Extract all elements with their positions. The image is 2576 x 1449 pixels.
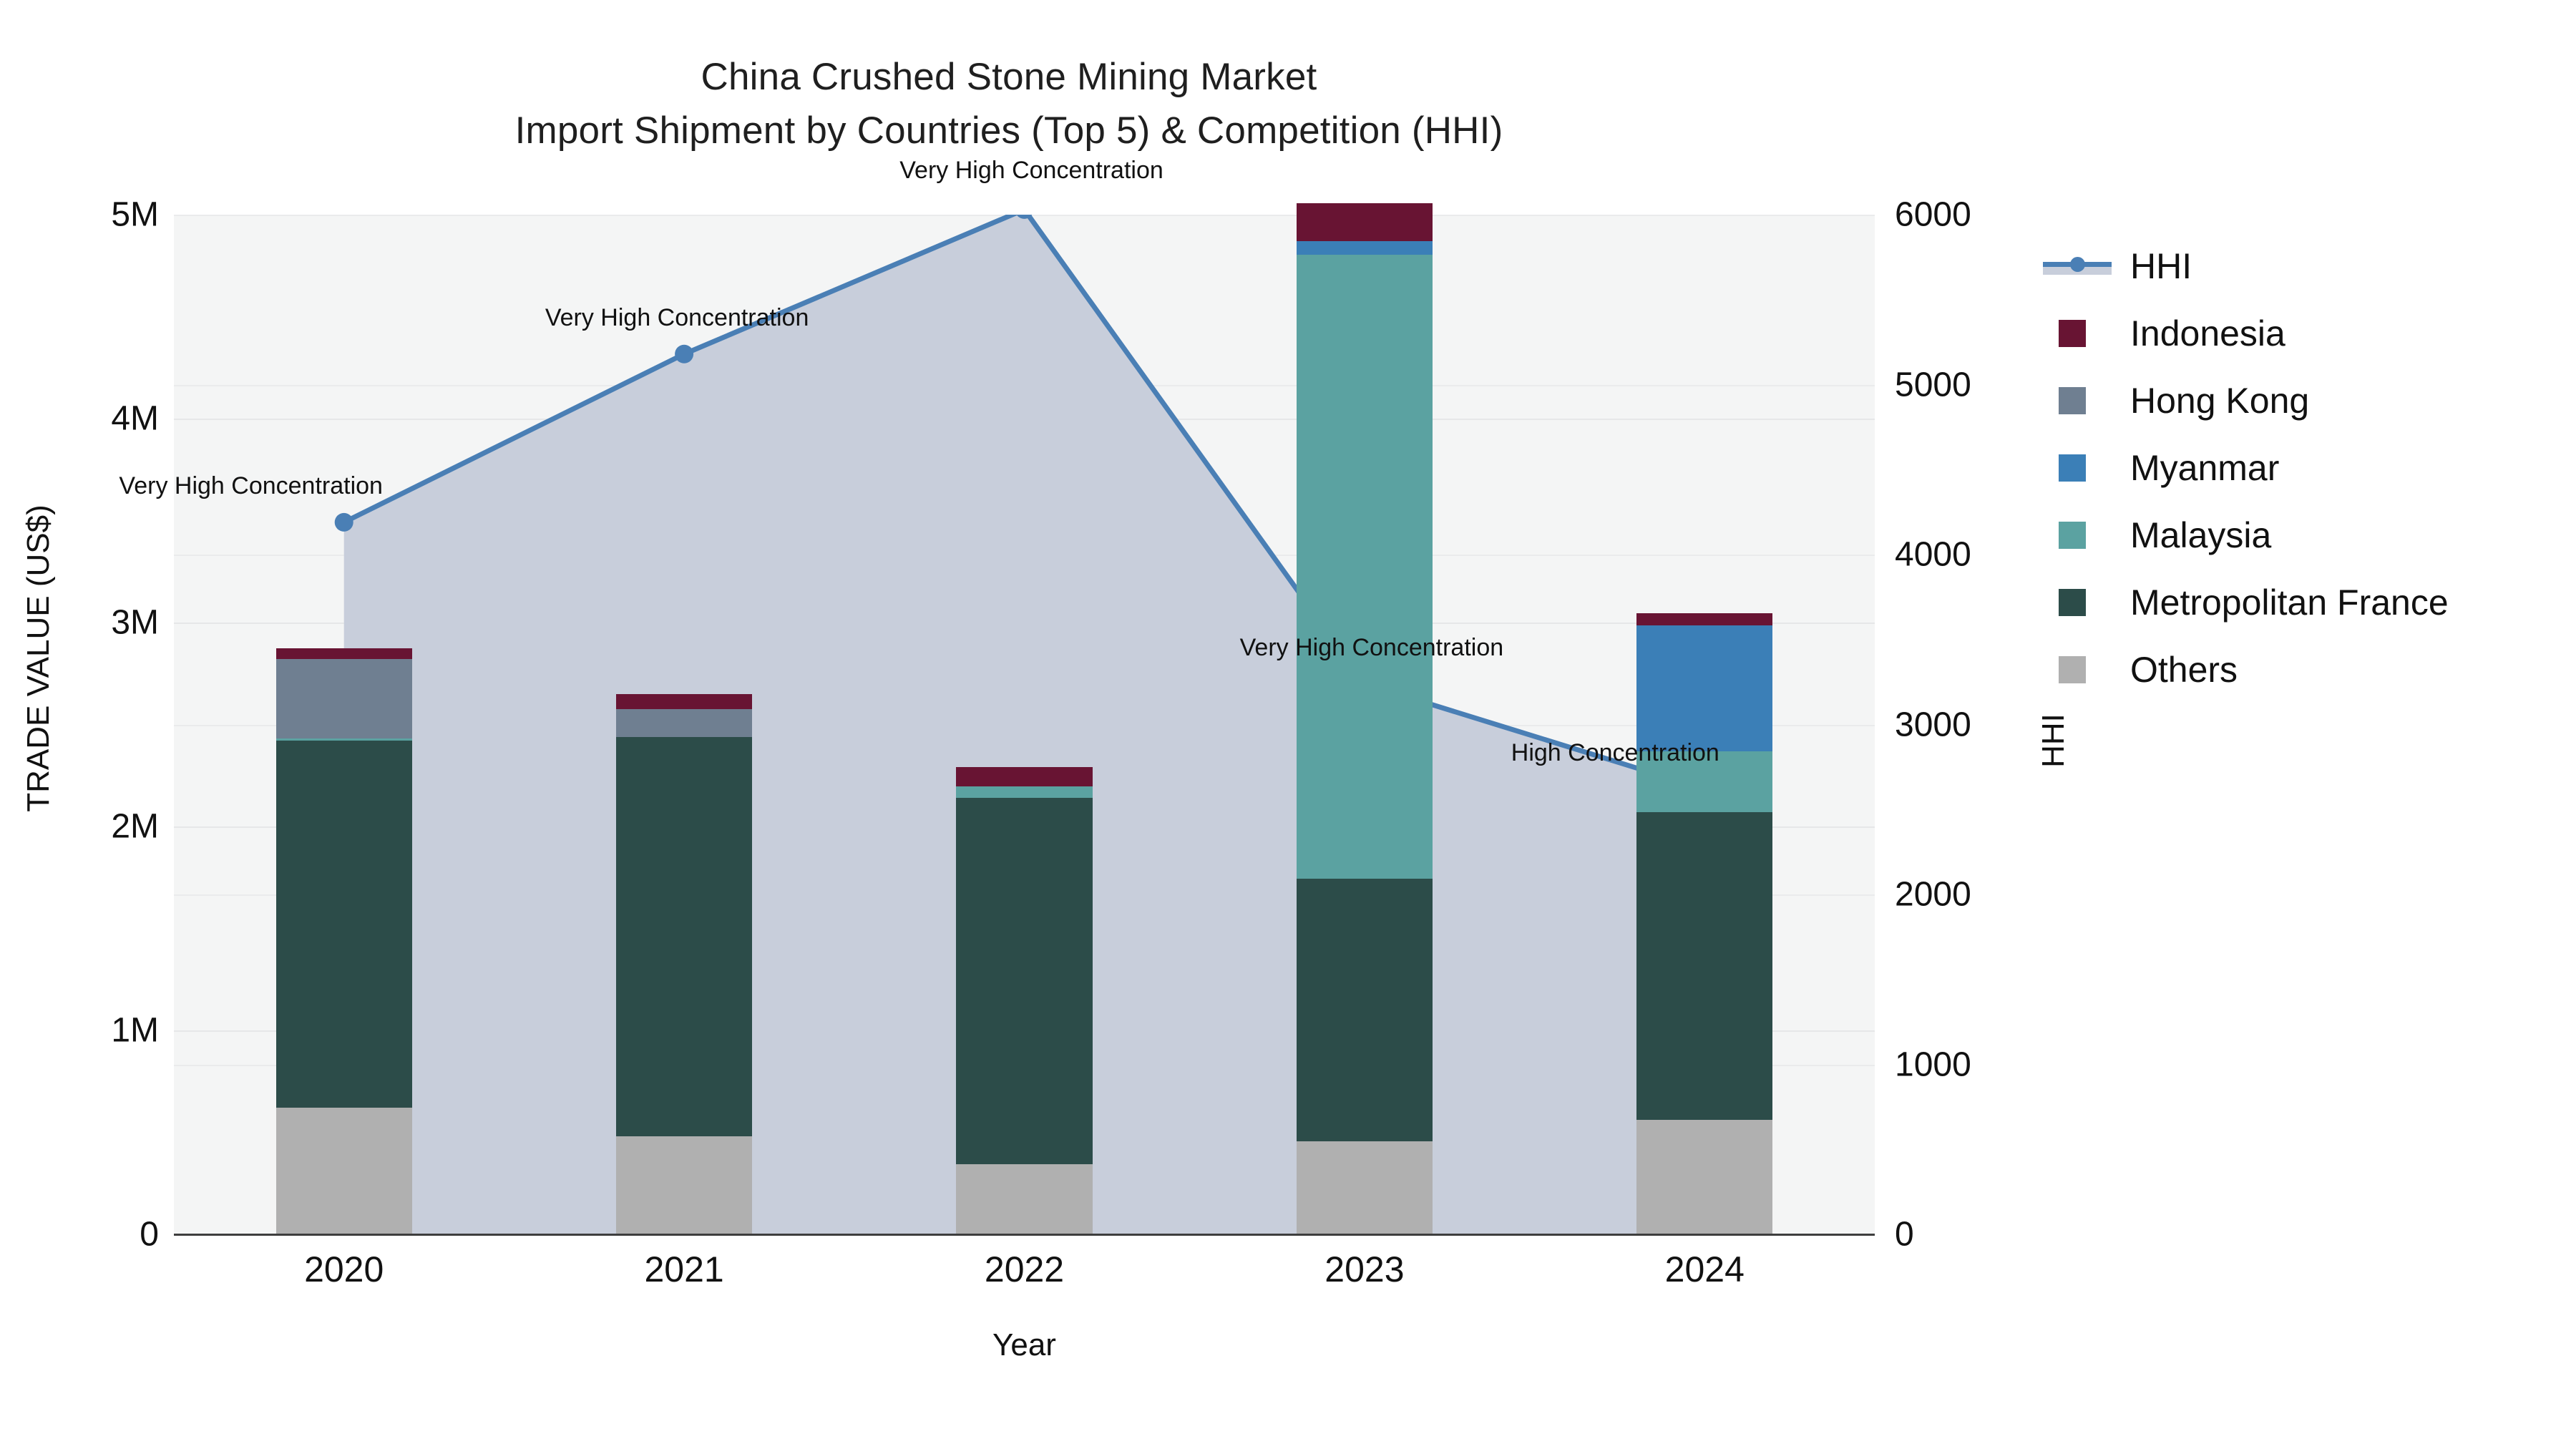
title-line-2: Import Shipment by Countries (Top 5) & C… <box>0 104 2018 157</box>
y-tick-right-5000: 5000 <box>1895 365 1971 404</box>
legend-label: Metropolitan France <box>2130 582 2449 623</box>
legend-item-metropolitan-france[interactable]: Metropolitan France <box>2043 569 2544 636</box>
x-tick-2024: 2024 <box>1665 1249 1745 1290</box>
concentration-annotation-2023: Very High Concentration <box>1240 634 1504 662</box>
bar-segment-metropolitan-france[interactable] <box>276 741 412 1108</box>
bar-segment-metropolitan-france[interactable] <box>616 737 752 1137</box>
y-tick-left-0: 0 <box>0 1215 159 1254</box>
chart-figure: China Crushed Stone Mining Market Import… <box>0 0 2576 1449</box>
bar-segment-metropolitan-france[interactable] <box>1636 812 1772 1120</box>
legend-key-icon <box>2043 315 2114 352</box>
bar-segment-hong-kong[interactable] <box>276 659 412 738</box>
bar-segment-malaysia[interactable] <box>276 738 412 741</box>
bar-segment-indonesia[interactable] <box>956 767 1092 786</box>
y-tick-right-6000: 6000 <box>1895 195 1971 235</box>
bar-stack-2024[interactable] <box>1636 215 1772 1234</box>
y-tick-left-5M: 5M <box>0 195 159 235</box>
bar-stack-2020[interactable] <box>276 215 412 1234</box>
legend-label: Hong Kong <box>2130 380 2309 421</box>
concentration-annotation-2020: Very High Concentration <box>119 472 383 500</box>
bar-segment-myanmar[interactable] <box>1636 625 1772 751</box>
title-line-1: China Crushed Stone Mining Market <box>0 50 2018 104</box>
bar-segment-malaysia[interactable] <box>1297 255 1433 879</box>
page-title: China Crushed Stone Mining Market Import… <box>0 50 2018 158</box>
legend-swatch-icon <box>2059 589 2086 616</box>
y-axis-left-label: TRADE VALUE (US$) <box>21 336 57 980</box>
bar-segment-indonesia[interactable] <box>1297 203 1433 241</box>
legend-label: Indonesia <box>2130 313 2285 354</box>
concentration-annotation-2021: Very High Concentration <box>545 304 809 332</box>
y-tick-right-2000: 2000 <box>1895 875 1971 914</box>
legend-swatch-icon <box>2059 320 2086 347</box>
legend-item-hong-kong[interactable]: Hong Kong <box>2043 367 2544 434</box>
legend-marker-dot-icon <box>2070 257 2085 272</box>
legend-item-hhi[interactable]: HHI <box>2043 233 2544 300</box>
bar-segment-malaysia[interactable] <box>956 786 1092 798</box>
bar-segment-hong-kong[interactable] <box>616 709 752 736</box>
bar-segment-others[interactable] <box>1297 1141 1433 1234</box>
y-tick-right-1000: 1000 <box>1895 1045 1971 1084</box>
bar-segment-others[interactable] <box>1636 1120 1772 1234</box>
concentration-annotation-2022: Very High Concentration <box>899 157 1163 185</box>
bar-segment-others[interactable] <box>956 1164 1092 1234</box>
legend-item-others[interactable]: Others <box>2043 636 2544 703</box>
bar-stack-2022[interactable] <box>956 215 1092 1234</box>
plot-area: Very High ConcentrationVery High Concent… <box>174 215 1875 1234</box>
bar-segment-metropolitan-france[interactable] <box>1297 879 1433 1142</box>
legend-label: Others <box>2130 649 2238 691</box>
x-axis-line <box>174 1234 1875 1236</box>
legend-item-myanmar[interactable]: Myanmar <box>2043 434 2544 502</box>
bar-segment-indonesia[interactable] <box>616 694 752 709</box>
x-tick-2022: 2022 <box>985 1249 1064 1290</box>
bar-segment-indonesia[interactable] <box>1636 613 1772 625</box>
legend-key-icon <box>2043 382 2114 419</box>
legend-item-indonesia[interactable]: Indonesia <box>2043 300 2544 367</box>
x-axis-label: Year <box>174 1327 1875 1363</box>
legend-label: HHI <box>2130 245 2192 287</box>
y-tick-right-3000: 3000 <box>1895 705 1971 744</box>
y-tick-right-0: 0 <box>1895 1215 1914 1254</box>
x-tick-2020: 2020 <box>304 1249 384 1290</box>
legend-swatch-icon <box>2059 656 2086 683</box>
bar-stack-2021[interactable] <box>616 215 752 1234</box>
x-tick-2021: 2021 <box>644 1249 723 1290</box>
legend-swatch-icon <box>2059 522 2086 549</box>
bar-segment-metropolitan-france[interactable] <box>956 798 1092 1164</box>
bar-segment-indonesia[interactable] <box>276 648 412 660</box>
legend-key-icon <box>2043 248 2114 285</box>
bar-segment-myanmar[interactable] <box>1297 241 1433 255</box>
bar-segment-others[interactable] <box>616 1136 752 1234</box>
legend-swatch-icon <box>2059 454 2086 482</box>
legend-label: Malaysia <box>2130 514 2271 556</box>
legend-label: Myanmar <box>2130 447 2279 489</box>
bar-segment-others[interactable] <box>276 1108 412 1234</box>
legend-key-icon <box>2043 651 2114 688</box>
legend-key-icon <box>2043 584 2114 621</box>
legend-key-icon <box>2043 449 2114 487</box>
legend-swatch-icon <box>2059 387 2086 414</box>
legend-key-icon <box>2043 517 2114 554</box>
x-tick-2023: 2023 <box>1324 1249 1404 1290</box>
y-tick-right-4000: 4000 <box>1895 535 1971 575</box>
y-tick-left-1M: 1M <box>0 1011 159 1050</box>
concentration-annotation-2024: High Concentration <box>1511 739 1719 767</box>
legend: HHIIndonesiaHong KongMyanmarMalaysiaMetr… <box>2043 233 2544 703</box>
bar-stack-2023[interactable] <box>1297 215 1433 1234</box>
legend-item-malaysia[interactable]: Malaysia <box>2043 502 2544 569</box>
